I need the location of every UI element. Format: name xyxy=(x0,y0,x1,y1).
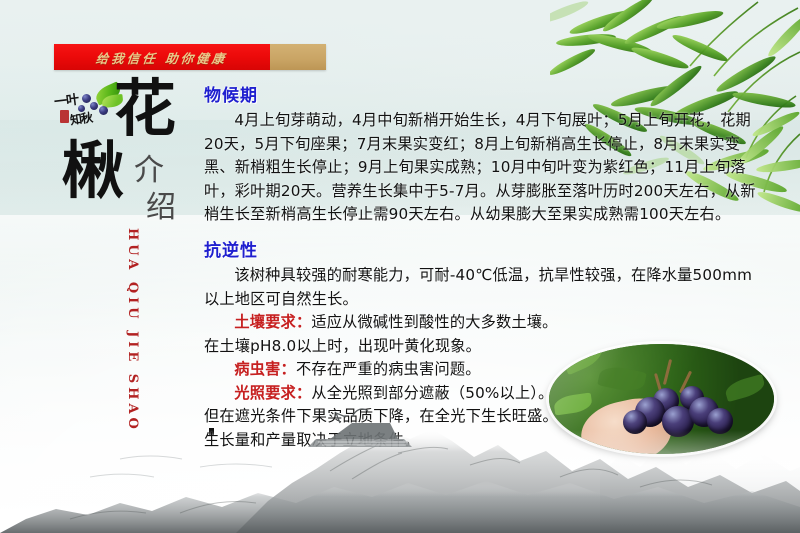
title-char-qiu: 楸 xyxy=(62,140,124,202)
section-heading-resistance: 抗逆性 xyxy=(204,241,766,262)
requirement-light-paragraph: 光照要求：从全光照到部分遮蔽（50%以上）。但在遮光条件下果实品质下降，在全光下… xyxy=(204,382,564,453)
section-body-phenology: 4月上旬芽萌动，4月中旬新梢开始生长，4月下旬展叶；5月上旬开花，花期20天，5… xyxy=(204,109,766,227)
title-pinyin: HUA QIU JIE SHAO xyxy=(125,228,140,408)
subtitle-char-jie: 介 xyxy=(134,156,164,186)
title-char-hua: 花 xyxy=(114,78,176,140)
poster-page: 给我信任 助你健康 一叶 知秋 花 楸 介 绍 HUA QIU JIE SHAO… xyxy=(0,0,800,533)
berry-icon xyxy=(99,106,108,115)
ribbon-red-part: 给我信任 助你健康 xyxy=(54,44,270,70)
brand-logo-line-2: 知秋 xyxy=(69,109,93,129)
requirement-soil: 土壤要求：适应从微碱性到酸性的大多数土壤。在土壤pH8.0以上时，出现叶黄化现象… xyxy=(204,311,564,358)
title-block: 一叶 知秋 花 楸 介 绍 HUA QIU JIE SHAO xyxy=(52,78,212,378)
berry-icon xyxy=(82,94,91,103)
requirement-pest-text: 不存在严重的病虫害问题。 xyxy=(296,360,481,378)
ribbon-tan-part xyxy=(270,44,326,70)
brand-logo-line-1: 一叶 xyxy=(53,89,79,111)
requirement-light: 光照要求：从全光照到部分遮蔽（50%以上）。但在遮光条件下果实品质下降，在全光下… xyxy=(204,382,564,453)
requirement-soil-label: 土壤要求： xyxy=(234,313,311,331)
fruit-photo xyxy=(549,344,774,454)
slogan-text: 给我信任 助你健康 xyxy=(95,48,228,67)
slogan-ribbon: 给我信任 助你健康 xyxy=(54,44,326,70)
subtitle-char-shao: 绍 xyxy=(146,193,176,223)
requirement-soil-paragraph: 土壤要求：适应从微碱性到酸性的大多数土壤。在土壤pH8.0以上时，出现叶黄化现象… xyxy=(204,311,564,358)
requirement-pest-label: 病虫害： xyxy=(234,360,296,378)
section-phenology: 物候期 4月上旬芽萌动，4月中旬新梢开始生长，4月下旬展叶；5月上旬开花，花期2… xyxy=(204,86,766,227)
requirement-light-label: 光照要求： xyxy=(234,384,311,402)
berry-icon xyxy=(90,102,98,110)
section-heading-phenology: 物候期 xyxy=(204,86,766,107)
seal-stamp-icon xyxy=(60,110,69,123)
photo-glare xyxy=(549,344,774,454)
section-body-resistance: 该树种具较强的耐寒能力，可耐-40℃低温，抗旱性较强，在降水量500mm以上地区… xyxy=(204,264,766,311)
